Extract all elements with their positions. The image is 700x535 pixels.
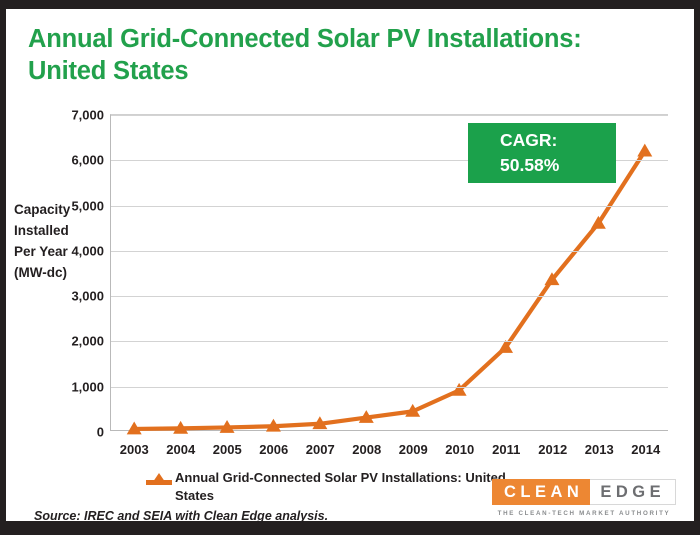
- cagr-callout: CAGR: 50.58%: [468, 123, 616, 183]
- y-axis-caption-line-4: (MW-dc): [14, 262, 106, 283]
- title-line-2: United States: [28, 55, 668, 87]
- x-axis-tick-label: 2006: [259, 442, 288, 457]
- legend-series-marker-icon: [146, 471, 172, 488]
- x-axis-tick-label: 2010: [445, 442, 474, 457]
- chart-legend: Annual Grid-Connected Solar PV Installat…: [146, 469, 506, 505]
- gridline: [111, 251, 668, 252]
- x-axis-tick-label: 2003: [120, 442, 149, 457]
- gridline: [111, 387, 668, 388]
- clean-edge-logo: CLEAN EDGE THE CLEAN-TECH MARKET AUTHORI…: [492, 479, 676, 517]
- title-line-1: Annual Grid-Connected Solar PV Installat…: [28, 25, 581, 53]
- y-axis-tick-label: 6,000: [71, 153, 104, 168]
- y-axis-tick-label: 4,000: [71, 243, 104, 258]
- x-axis-tick-label: 2005: [213, 442, 242, 457]
- logo-tagline: THE CLEAN-TECH MARKET AUTHORITY: [492, 510, 676, 517]
- cagr-label: CAGR:: [500, 128, 616, 153]
- x-axis-tick-label: 2009: [399, 442, 428, 457]
- y-axis-tick-label: 3,000: [71, 289, 104, 304]
- x-axis-tick-label: 2004: [166, 442, 195, 457]
- x-axis-tick-label: 2013: [585, 442, 614, 457]
- y-axis-tick-label: 1,000: [71, 379, 104, 394]
- x-axis-tick-label: 2007: [306, 442, 335, 457]
- y-axis-tick-label: 0: [97, 425, 104, 440]
- y-axis-tick-label: 5,000: [71, 198, 104, 213]
- x-axis-tick-label: 2014: [631, 442, 660, 457]
- page-title: Annual Grid-Connected Solar PV Installat…: [28, 23, 668, 87]
- x-axis-tick-label: 2012: [538, 442, 567, 457]
- x-axis-tick-label: 2008: [352, 442, 381, 457]
- logo-wordmark: CLEAN EDGE: [492, 479, 676, 505]
- legend-item-label: Annual Grid-Connected Solar PV Installat…: [175, 469, 506, 505]
- source-note: Source: IREC and SEIA with Clean Edge an…: [34, 509, 328, 523]
- data-point-marker: [637, 144, 652, 157]
- logo-word-edge: EDGE: [590, 479, 676, 505]
- gridline: [111, 296, 668, 297]
- y-axis-tick-label: 7,000: [71, 108, 104, 123]
- y-axis-caption-line-2: Installed: [14, 220, 106, 241]
- y-axis-tick-label: 2,000: [71, 334, 104, 349]
- chart-card: Annual Grid-Connected Solar PV Installat…: [6, 9, 694, 521]
- gridline: [111, 206, 668, 207]
- x-axis-tick-label: 2011: [492, 442, 520, 457]
- gridline: [111, 341, 668, 342]
- gridline: [111, 115, 668, 116]
- logo-word-clean: CLEAN: [492, 479, 590, 505]
- cagr-value: 50.58%: [500, 153, 616, 178]
- chart-frame: Annual Grid-Connected Solar PV Installat…: [0, 0, 700, 535]
